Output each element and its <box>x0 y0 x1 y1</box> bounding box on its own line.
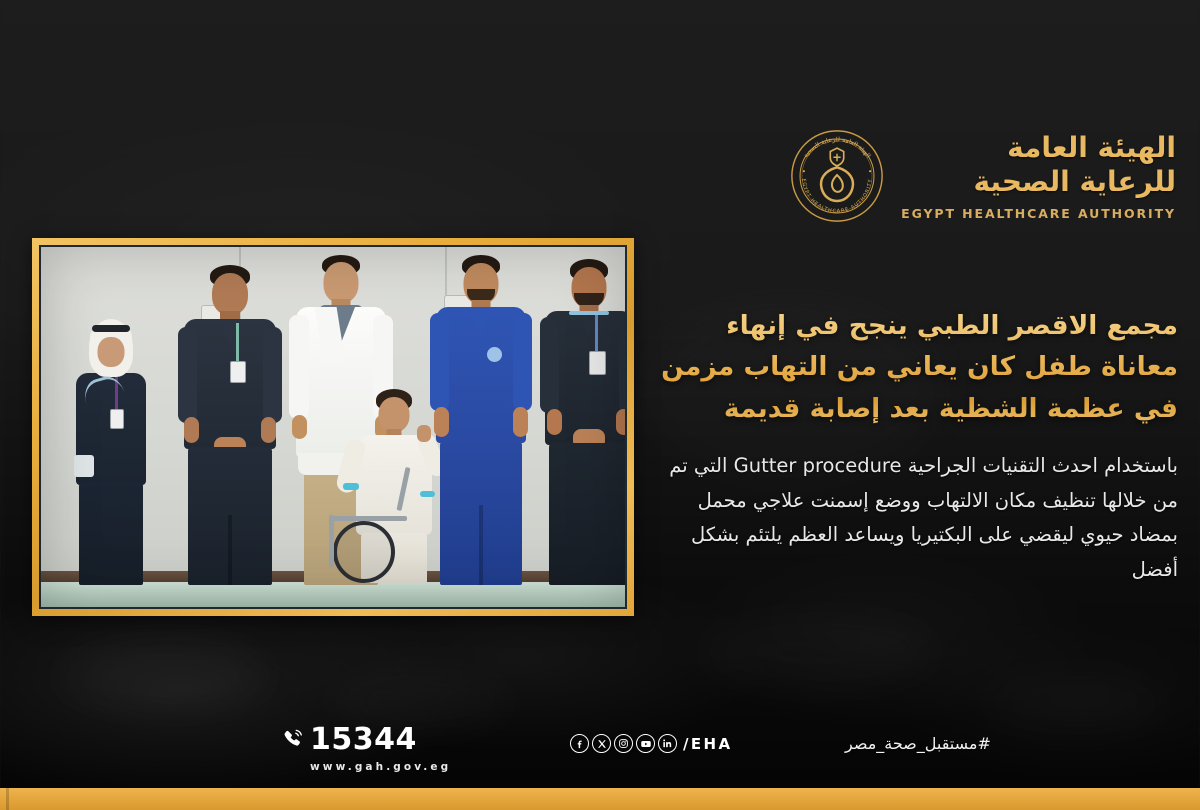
article-text-column: مجمع الاقصر الطبي ينجح في إنهاء معاناة ط… <box>658 305 1178 588</box>
brand-name-arabic-line1: الهيئة العامة <box>901 131 1176 165</box>
photo-scene <box>41 247 625 607</box>
photo-person-staff-1 <box>176 265 284 585</box>
svg-text:EGYPT HEALTHCARE AUTHORITY: EGYPT HEALTHCARE AUTHORITY <box>801 178 874 214</box>
brand-logo-block: الهيئة العامة للرعاية الصحية EGYPT HEALT… <box>789 128 1176 224</box>
hotline-block[interactable]: 15344 www.gah.gov.eg <box>282 725 451 773</box>
website-url[interactable]: www.gah.gov.eg <box>310 761 451 773</box>
instagram-icon[interactable] <box>614 734 633 753</box>
wheelchair-wheel-icon <box>333 521 395 583</box>
footer: 15344 www.gah.gov.eg <box>0 720 1200 788</box>
youtube-icon[interactable] <box>636 734 655 753</box>
body-paragraph: باستخدام احدث التقنيات الجراحية Gutter p… <box>658 449 1178 588</box>
phone-icon <box>282 728 304 754</box>
facebook-icon[interactable] <box>570 734 589 753</box>
x-twitter-icon[interactable] <box>592 734 611 753</box>
photo-person-staff-3 <box>539 259 627 585</box>
campaign-hashtag[interactable]: #مستقبل_صحة_مصر <box>845 734 991 753</box>
bottom-gold-bar <box>0 788 1200 810</box>
brand-name-arabic-line2: للرعاية الصحية <box>901 165 1176 199</box>
headline: مجمع الاقصر الطبي ينجح في إنهاء معاناة ط… <box>658 305 1178 429</box>
social-links[interactable]: /EHA <box>570 734 733 753</box>
news-photo <box>39 245 627 609</box>
bottom-bar-notch <box>6 788 9 810</box>
hotline-number[interactable]: 15344 <box>310 725 451 755</box>
poster-canvas: الهيئة العامة للرعاية الصحية EGYPT HEALT… <box>0 0 1200 810</box>
linkedin-icon[interactable] <box>658 734 677 753</box>
brand-name-english: EGYPT HEALTHCARE AUTHORITY <box>901 206 1176 221</box>
photo-person-staff-2 <box>429 255 533 585</box>
news-photo-frame <box>32 238 634 616</box>
brand-wordmark: الهيئة العامة للرعاية الصحية EGYPT HEALT… <box>901 131 1176 221</box>
social-handle[interactable]: /EHA <box>683 735 733 753</box>
photo-person-nurse <box>71 317 151 585</box>
authority-seal-icon: الهيئة العامة للرعاية الصحية EGYPT HEALT… <box>789 128 885 224</box>
